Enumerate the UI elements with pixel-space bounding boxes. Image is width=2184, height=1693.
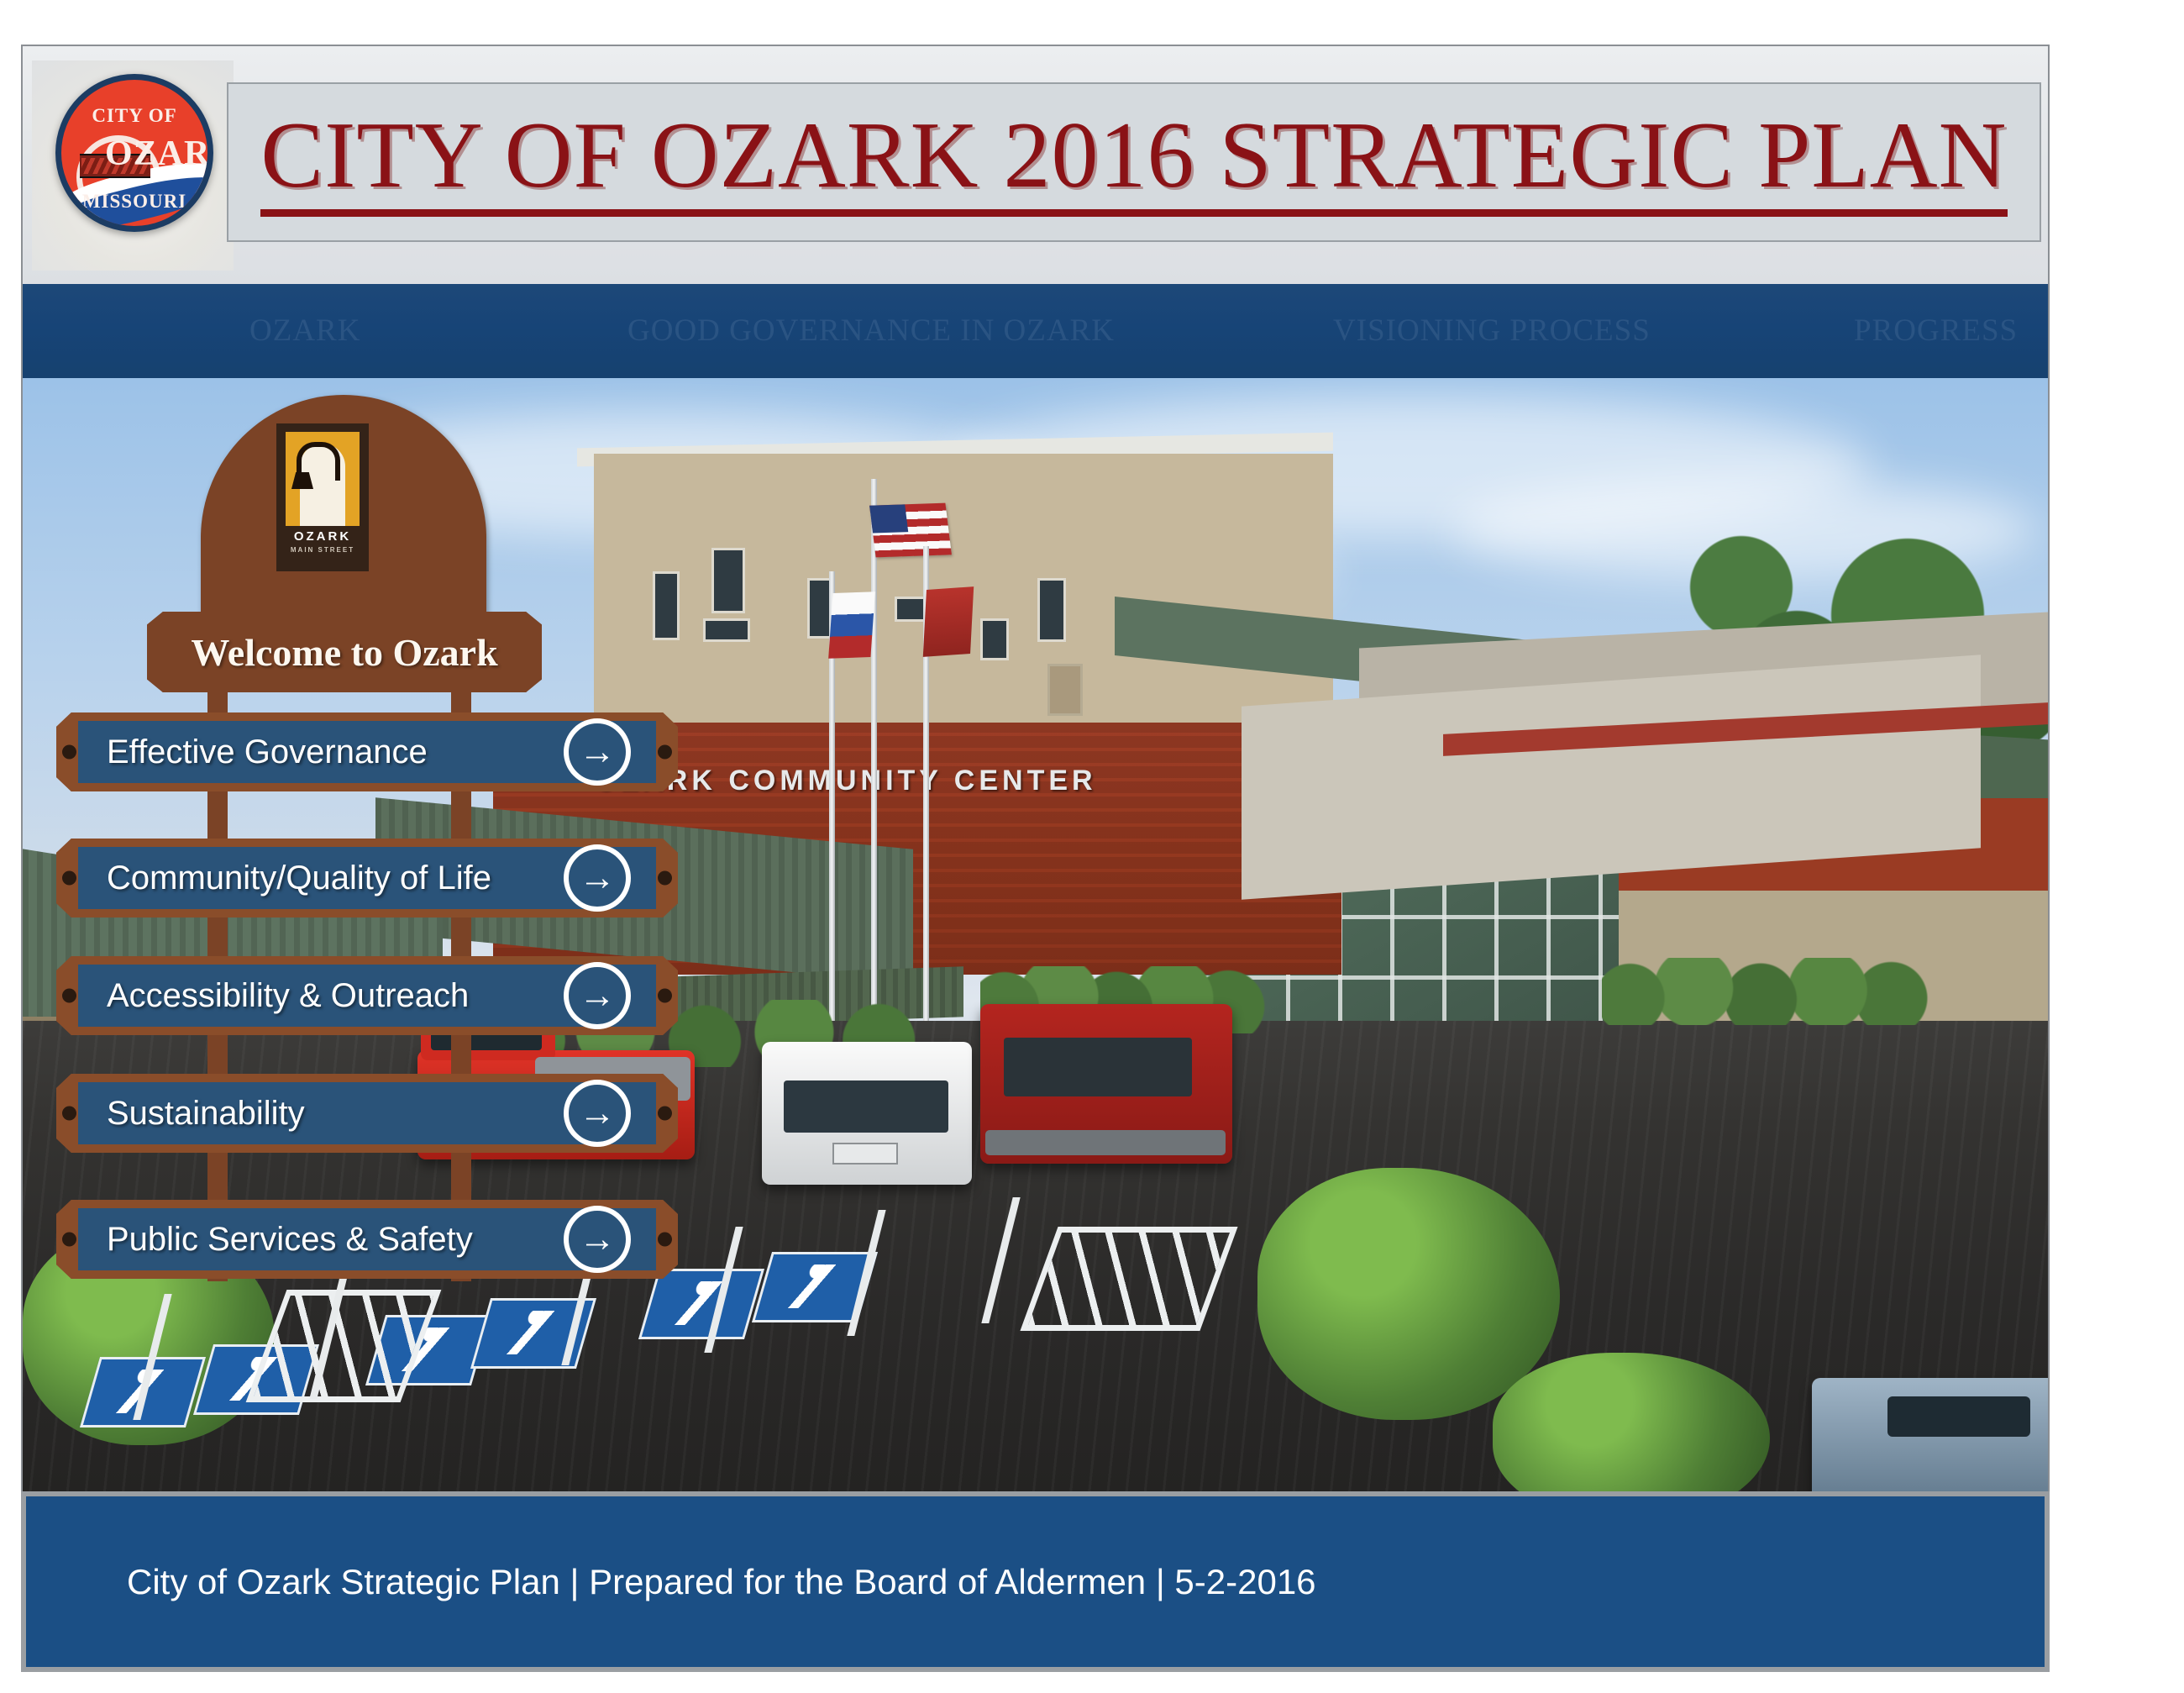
- plank-bolt: [62, 745, 76, 760]
- window: [1037, 578, 1066, 642]
- footer-caption: City of Ozark Strategic Plan | Prepared …: [127, 1562, 1316, 1602]
- arrow-right-icon: →: [564, 962, 631, 1029]
- page-title-box: CITY OF OZARK 2016 STRATEGIC PLAN: [227, 82, 2041, 242]
- nav-item-ozark[interactable]: OZARK: [249, 313, 360, 349]
- arrow-right-icon: →: [564, 718, 631, 786]
- nav-item-visioning-process[interactable]: VISIONING PROCESS: [1333, 313, 1651, 349]
- cover-photo: OZARK COMMUNITY CENTER: [21, 378, 2050, 1491]
- car-rear-window: [784, 1080, 948, 1133]
- suv-bumper: [985, 1130, 1226, 1155]
- plank-bolt: [62, 989, 76, 1003]
- seal-emblem: CITY OF OZARK MISSOURI: [55, 74, 213, 232]
- sunroof: [1887, 1396, 2030, 1437]
- page-footer: City of Ozark Strategic Plan | Prepared …: [21, 1491, 2050, 1672]
- missouri-flag-icon: [828, 591, 875, 659]
- city-seal-logo: CITY OF OZARK MISSOURI: [32, 60, 234, 271]
- us-flag-icon: [869, 503, 952, 558]
- seal-line-missouri: MISSOURI: [61, 191, 207, 213]
- logo-subname: MAIN STREET: [276, 546, 369, 554]
- sign-plank-public-services-safety[interactable]: Public Services & Safety →: [56, 1200, 678, 1279]
- page-header: CITY OF OZARK MISSOURI CITY OF OZARK 201…: [0, 0, 2184, 286]
- sign-headline: Welcome to Ozark: [191, 630, 497, 675]
- sign-plank-effective-governance[interactable]: Effective Governance →: [56, 712, 678, 791]
- large-bush: [1257, 1168, 1560, 1420]
- plank-label: Public Services & Safety: [107, 1221, 473, 1259]
- wall-panel: [1047, 664, 1083, 716]
- sign-plank-accessibility-outreach[interactable]: Accessibility & Outreach →: [56, 956, 678, 1035]
- plank-bolt: [658, 1233, 672, 1247]
- arrow-right-icon: →: [564, 844, 631, 912]
- shrub-row: [1602, 958, 1955, 1025]
- plank-label: Effective Governance: [107, 733, 428, 771]
- page-title: CITY OF OZARK 2016 STRATEGIC PLAN: [260, 108, 2007, 217]
- window: [980, 618, 1009, 660]
- plank-bolt: [62, 871, 76, 886]
- nav-item-progress[interactable]: PROGRESS: [1854, 313, 2018, 349]
- plank-label: Accessibility & Outreach: [107, 977, 469, 1015]
- sign-plank-community-quality-of-life[interactable]: Community/Quality of Life →: [56, 839, 678, 917]
- plank-bolt: [658, 1107, 672, 1121]
- suv-rear-window: [1004, 1038, 1192, 1096]
- plank-label: Sustainability: [107, 1095, 305, 1133]
- plank-bolt: [658, 745, 672, 760]
- arrow-right-icon: →: [564, 1080, 631, 1147]
- seal-line-ozark: OZARK: [105, 134, 213, 174]
- plank-bolt: [62, 1107, 76, 1121]
- license-plate: [832, 1143, 898, 1165]
- hatched-access-aisle: [1020, 1227, 1237, 1331]
- plank-bolt: [658, 989, 672, 1003]
- ozark-main-street-logo: OZARK MAIN STREET: [276, 423, 369, 571]
- welcome-to-ozark-sign: OZARK MAIN STREET Welcome to Ozark Effec…: [56, 395, 720, 1294]
- seal-line-city: CITY OF: [61, 105, 207, 127]
- plank-label: Community/Quality of Life: [107, 860, 491, 897]
- section-nav-bar: OZARK GOOD GOVERNANCE IN OZARK VISIONING…: [21, 284, 2050, 378]
- plank-bolt: [658, 871, 672, 886]
- sign-plank-sustainability[interactable]: Sustainability →: [56, 1074, 678, 1153]
- white-car: [762, 1042, 972, 1185]
- sign-headline-panel: Welcome to Ozark: [147, 612, 542, 692]
- logo-name: OZARK: [276, 529, 369, 544]
- third-flag-icon: [923, 586, 974, 657]
- arrow-right-icon: →: [564, 1206, 631, 1273]
- nav-item-good-governance[interactable]: GOOD GOVERNANCE IN OZARK: [627, 313, 1115, 349]
- plank-bolt: [62, 1233, 76, 1247]
- red-suv: [980, 1004, 1232, 1164]
- blue-sedan: [1812, 1378, 2050, 1491]
